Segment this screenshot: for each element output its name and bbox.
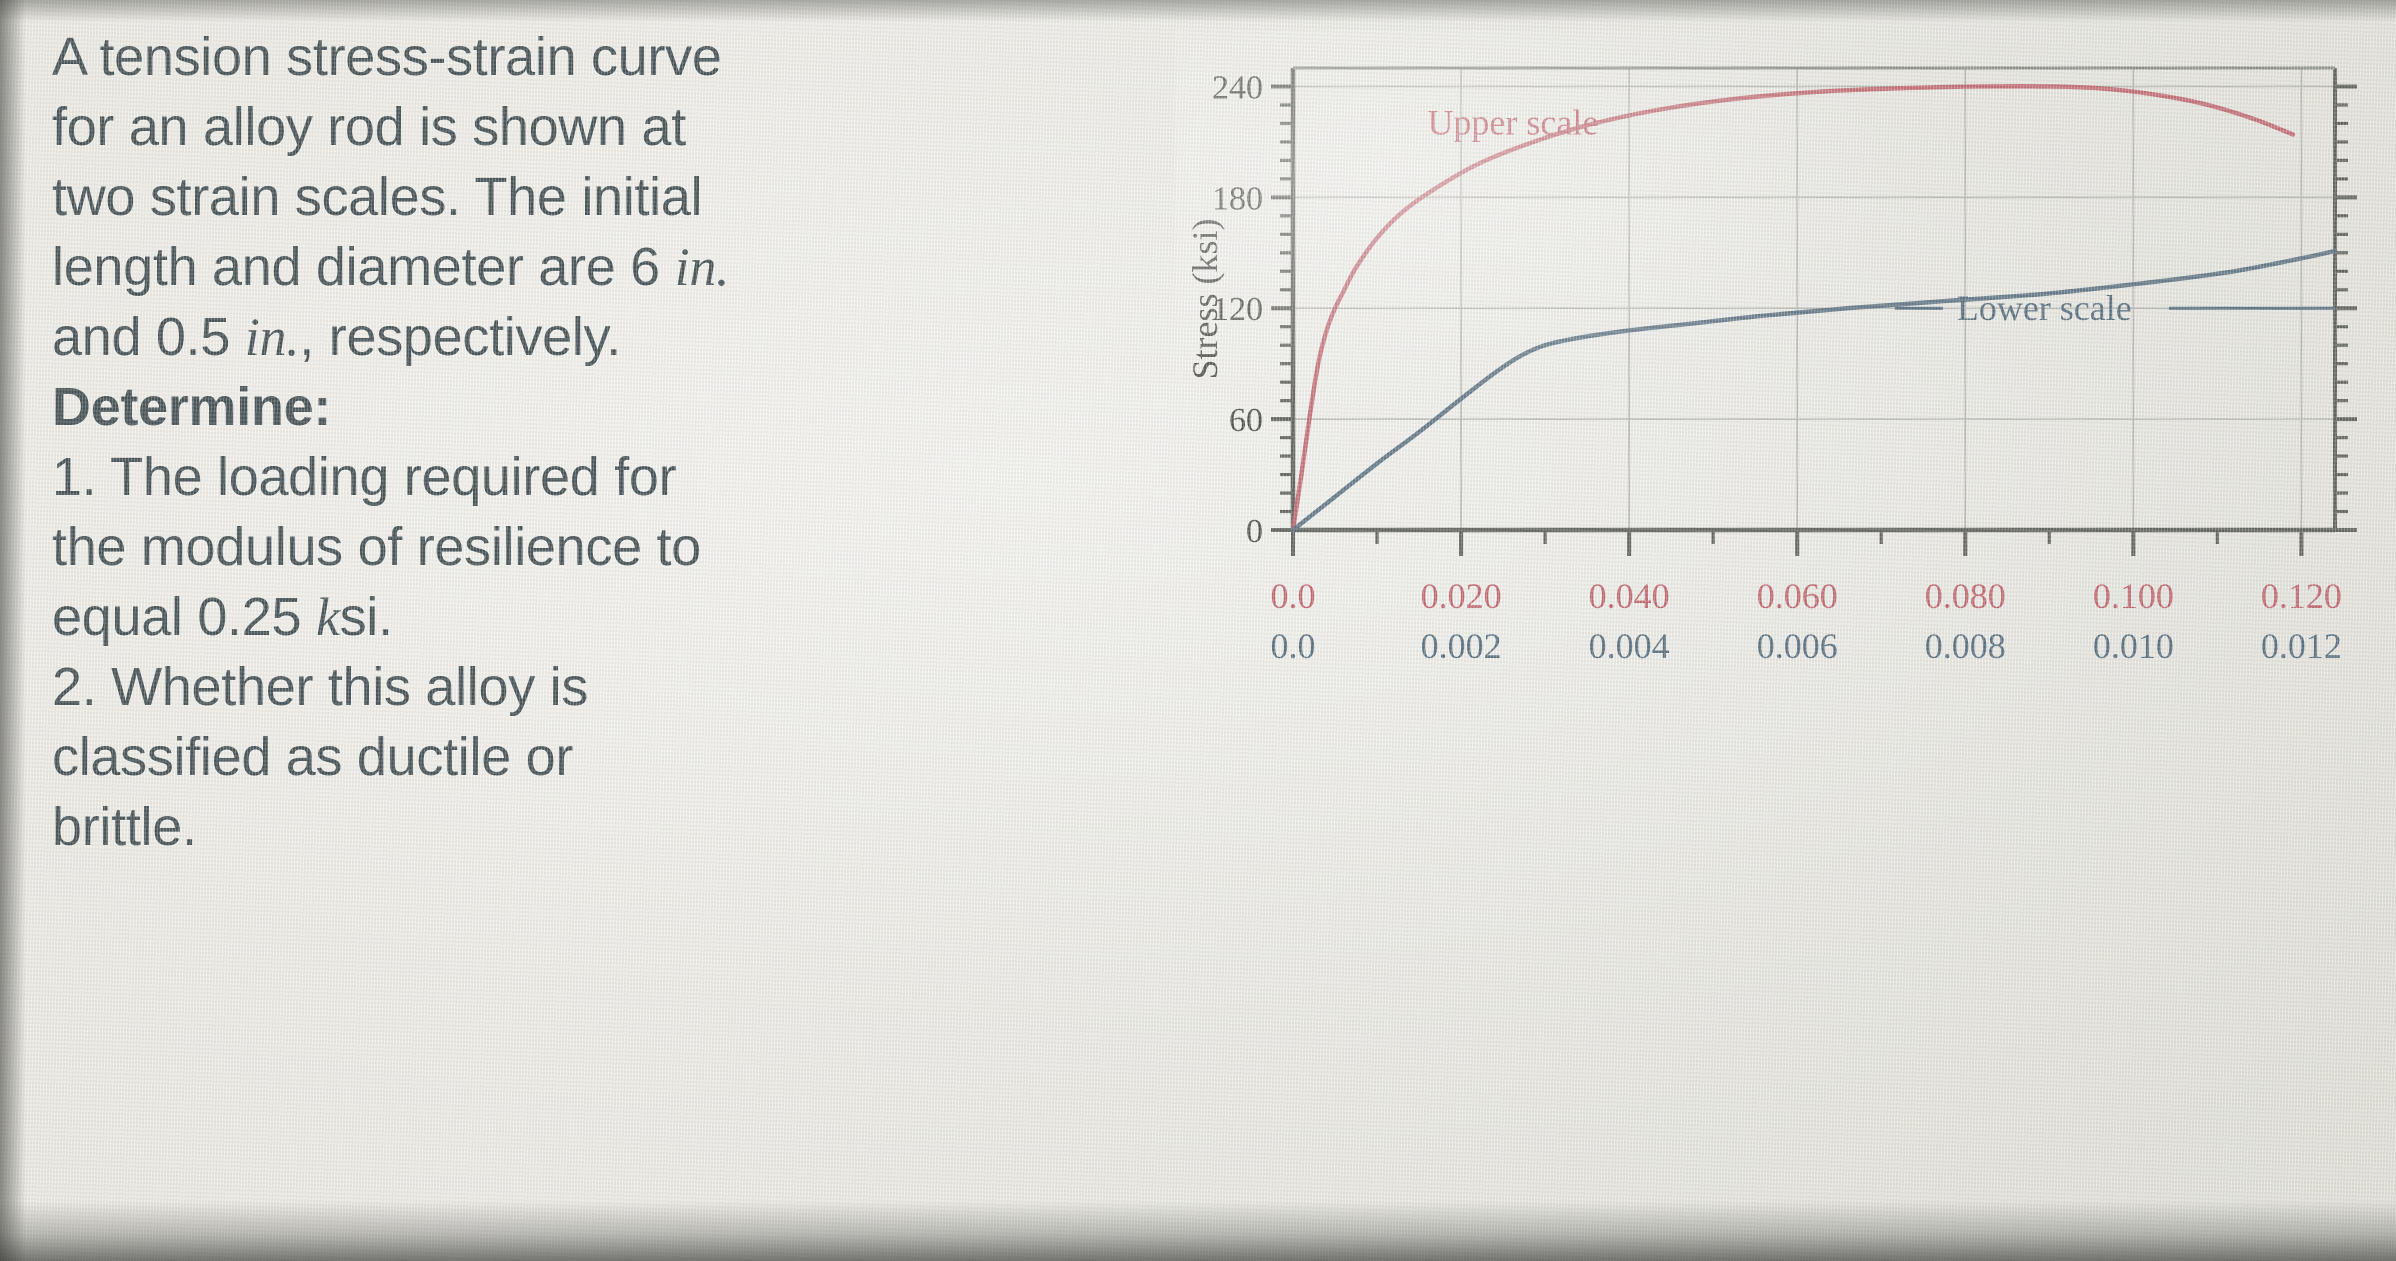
problem-line-5: and 0.5 in., respectively. — [52, 302, 812, 372]
x-tick-label-lower: 0.006 — [1757, 626, 1838, 666]
x-tick-label-upper: 0.0 — [1271, 576, 1316, 616]
problem-line-9: equal 0.25 ksi. — [52, 582, 812, 652]
x-tick-label-lower: 0.008 — [1925, 626, 2006, 666]
text-run: equal 0.25 — [52, 587, 316, 647]
chart-svg: 0601201802400.00.0200.0400.0600.0800.100… — [1175, 30, 2365, 670]
curve-lower-scale — [1293, 251, 2335, 530]
text-run: classified as ductile or — [52, 727, 573, 787]
text-run: si. — [340, 587, 393, 647]
text-run: , respectively. — [299, 307, 621, 367]
problem-line-1: A tension stress-strain curve — [52, 22, 812, 92]
x-tick-label-upper: 0.020 — [1421, 576, 1502, 616]
text-run: brittle. — [52, 797, 197, 857]
problem-line-8: the modulus of resilience to — [52, 512, 812, 582]
x-tick-label-lower: 0.012 — [2261, 626, 2342, 666]
text-run: in. — [245, 307, 300, 367]
y-tick-label: 240 — [1212, 69, 1263, 106]
x-tick-label-lower: 0.004 — [1589, 626, 1670, 666]
x-tick-label-lower: 0.002 — [1421, 626, 1502, 666]
problem-line-3: two strain scales. The initial — [52, 162, 812, 232]
x-tick-label-upper: 0.080 — [1925, 576, 2006, 616]
problem-line-2: for an alloy rod is shown at — [52, 92, 812, 162]
text-run: two strain scales. The initial — [52, 167, 702, 227]
x-tick-label-upper: 0.100 — [2093, 576, 2174, 616]
x-tick-label-upper: 0.060 — [1757, 576, 1838, 616]
x-tick-label-lower: 0.010 — [2093, 626, 2174, 666]
problem-statement: A tension stress-strain curvefor an allo… — [52, 22, 812, 862]
text-run: 1. The loading required for — [52, 447, 676, 507]
problem-line-6: Determine: — [52, 372, 812, 442]
x-tick-label-lower: 0.0 — [1271, 626, 1316, 666]
text-run: in. — [675, 237, 730, 297]
stress-strain-chart: 0601201802400.00.0200.0400.0600.0800.100… — [1175, 30, 2365, 670]
problem-line-7: 1. The loading required for — [52, 442, 812, 512]
text-run: Determine: — [52, 377, 331, 437]
tick-labels-layer: 0601201802400.00.0200.0400.0600.0800.100… — [1185, 69, 2342, 670]
text-run: for an alloy rod is shown at — [52, 97, 686, 157]
x-tick-label-upper: 0.120 — [2261, 576, 2342, 616]
text-run: length and diameter are 6 — [52, 237, 675, 297]
text-run: 2. Whether this alloy is — [52, 657, 588, 717]
problem-line-4: length and diameter are 6 in. — [52, 232, 812, 302]
text-run: A tension stress-strain curve — [52, 27, 722, 87]
text-run: and 0.5 — [52, 307, 245, 367]
problem-line-11: classified as ductile or — [52, 722, 812, 792]
y-tick-label: 60 — [1229, 402, 1263, 439]
annotations-layer: Upper scaleLower scale — [1427, 103, 2335, 329]
problem-line-12: brittle. — [52, 792, 812, 862]
text-run: the modulus of resilience to — [52, 517, 701, 577]
y-tick-label: 180 — [1212, 180, 1263, 217]
problem-line-10: 2. Whether this alloy is — [52, 652, 812, 722]
annotation-lower-scale: Lower scale — [1957, 288, 2132, 328]
y-tick-label: 0 — [1246, 513, 1263, 550]
annotation-upper-scale: Upper scale — [1427, 103, 1598, 143]
y-axis-title: Stress (ksi) — [1185, 219, 1225, 380]
text-run: k — [316, 587, 340, 647]
x-tick-label-upper: 0.040 — [1589, 576, 1670, 616]
